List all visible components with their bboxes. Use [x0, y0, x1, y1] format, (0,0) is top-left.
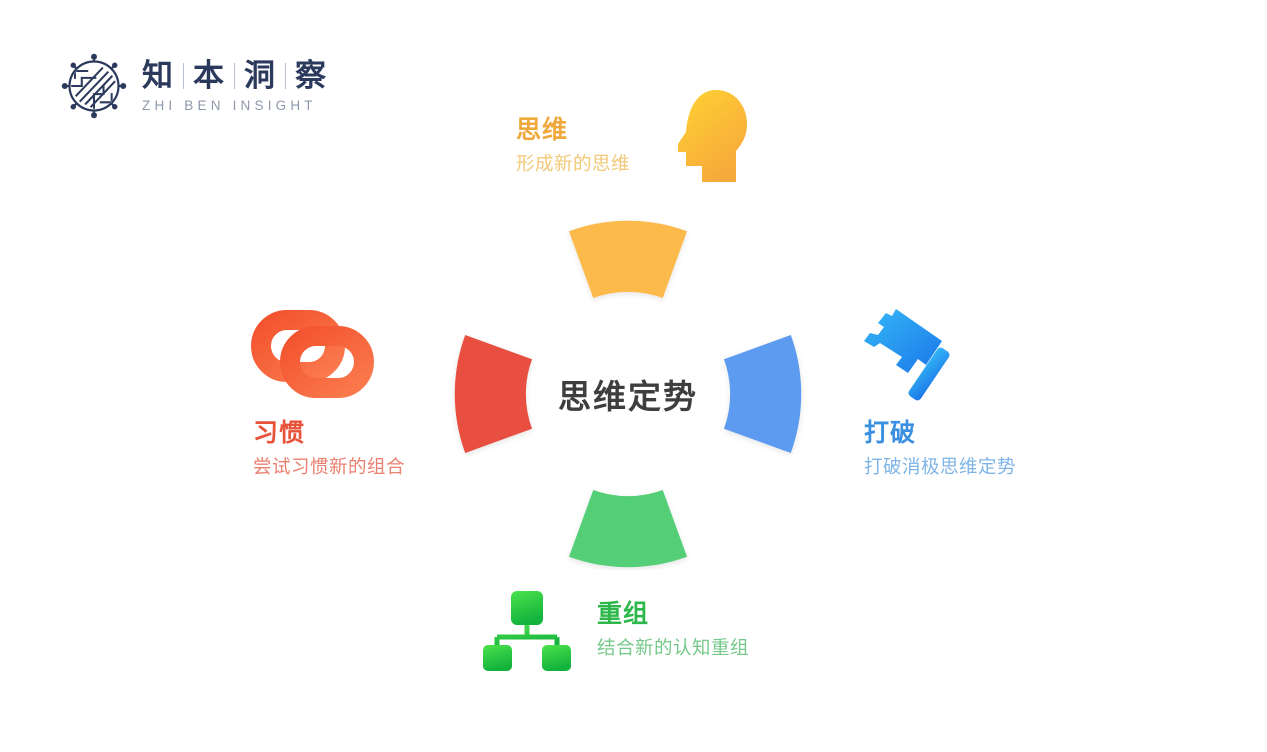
brand-separator: [285, 63, 286, 89]
org-chart-icon: [483, 589, 571, 671]
head-profile-icon: [672, 88, 748, 184]
cycle-donut-chart: 思维定势: [452, 218, 804, 570]
brand-separator: [234, 63, 235, 89]
callout-chongzu: 重组 结合新的认知重组: [597, 599, 749, 659]
brand-char-4: 察: [295, 59, 327, 92]
callout-siwei: 思维 形成新的思维: [516, 115, 630, 175]
hammer-icon: [858, 305, 964, 407]
brand-char-1: 知: [142, 59, 174, 92]
brand-char-3: 洞: [244, 59, 276, 92]
callout-xiguan: 习惯 尝试习惯新的组合: [253, 418, 405, 478]
callout-chongzu-title: 重组: [597, 599, 749, 629]
callout-xiguan-desc: 尝试习惯新的组合: [253, 455, 405, 478]
brand-name-cn: 知 本 洞 察: [142, 59, 327, 92]
callout-dapo-title: 打破: [864, 418, 1016, 448]
donut-segment-xiguan: [455, 335, 532, 453]
brand-logo: 知 本 洞 察 ZHI BEN INSIGHT: [60, 52, 327, 120]
chain-links-icon: [248, 306, 376, 402]
brand-separator: [183, 63, 184, 89]
circuit-circle-logo-icon: [60, 52, 128, 120]
donut-segment-siwei: [569, 221, 687, 298]
brand-name-en: ZHI BEN INSIGHT: [142, 98, 327, 113]
callout-xiguan-title: 习惯: [253, 418, 405, 448]
callout-chongzu-desc: 结合新的认知重组: [597, 636, 749, 659]
brand-char-2: 本: [193, 59, 225, 92]
donut-segment-chongzu: [569, 490, 687, 567]
brand-wordmark: 知 本 洞 察 ZHI BEN INSIGHT: [142, 59, 327, 113]
callout-dapo: 打破 打破消极思维定势: [864, 418, 1016, 478]
donut-segment-dapo: [724, 335, 801, 453]
callout-siwei-desc: 形成新的思维: [516, 152, 630, 175]
callout-siwei-title: 思维: [516, 115, 630, 145]
callout-dapo-desc: 打破消极思维定势: [864, 455, 1016, 478]
